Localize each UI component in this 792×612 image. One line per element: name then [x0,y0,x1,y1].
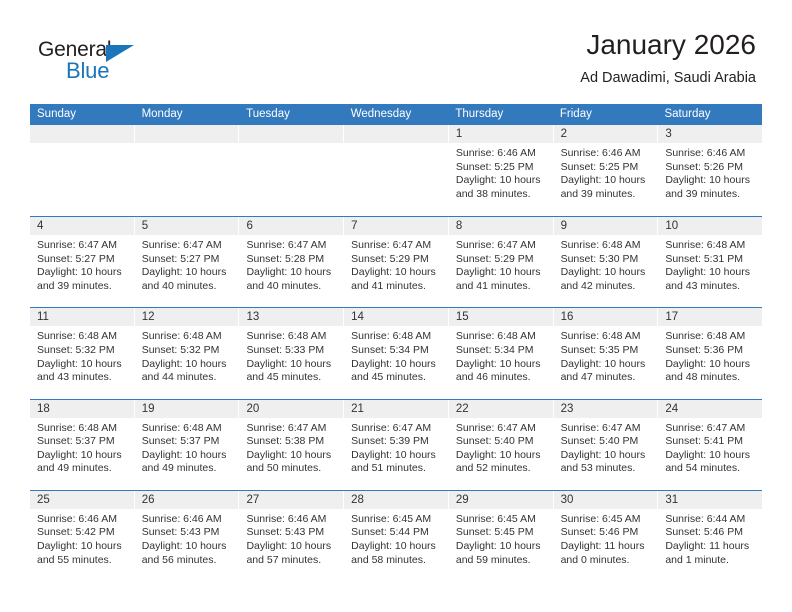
day-sun-info: Sunrise: 6:48 AMSunset: 5:32 PMDaylight:… [135,326,239,384]
day-sun-info: Sunrise: 6:44 AMSunset: 5:46 PMDaylight:… [658,509,762,567]
calendar-day-cell[interactable]: 27Sunrise: 6:46 AMSunset: 5:43 PMDayligh… [239,491,344,581]
sunset-text: Sunset: 5:27 PM [37,253,127,267]
sunset-text: Sunset: 5:35 PM [561,344,651,358]
sunrise-text: Sunrise: 6:47 AM [456,239,546,253]
day-number: 20 [239,400,343,418]
calendar-day-cell[interactable]: 5Sunrise: 6:47 AMSunset: 5:27 PMDaylight… [135,217,240,307]
day-number: 15 [449,308,553,326]
sunrise-text: Sunrise: 6:47 AM [246,422,336,436]
day-sun-info: Sunrise: 6:48 AMSunset: 5:34 PMDaylight:… [449,326,553,384]
daylight-text: Daylight: 10 hours and 40 minutes. [246,266,336,293]
calendar-day-cell[interactable]: 11Sunrise: 6:48 AMSunset: 5:32 PMDayligh… [30,308,135,398]
calendar-day-cell[interactable]: 25Sunrise: 6:46 AMSunset: 5:42 PMDayligh… [30,491,135,581]
calendar-day-cell[interactable]: 30Sunrise: 6:45 AMSunset: 5:46 PMDayligh… [554,491,659,581]
day-number: 14 [344,308,448,326]
sunrise-text: Sunrise: 6:45 AM [456,513,546,527]
day-number: 4 [30,217,134,235]
daylight-text: Daylight: 10 hours and 43 minutes. [665,266,755,293]
day-sun-info: Sunrise: 6:48 AMSunset: 5:32 PMDaylight:… [30,326,134,384]
sunset-text: Sunset: 5:43 PM [246,526,336,540]
weekday-header-monday: Monday [135,104,240,125]
sunset-text: Sunset: 5:46 PM [665,526,755,540]
calendar-day-cell[interactable]: 22Sunrise: 6:47 AMSunset: 5:40 PMDayligh… [449,400,554,490]
day-sun-info: Sunrise: 6:45 AMSunset: 5:44 PMDaylight:… [344,509,448,567]
daylight-text: Daylight: 10 hours and 49 minutes. [142,449,232,476]
day-sun-info: Sunrise: 6:47 AMSunset: 5:27 PMDaylight:… [30,235,134,293]
day-number: 3 [658,125,762,143]
day-number: 28 [344,491,448,509]
calendar-day-cell[interactable]: 21Sunrise: 6:47 AMSunset: 5:39 PMDayligh… [344,400,449,490]
calendar-cell-empty [30,125,135,216]
day-number [135,125,239,143]
day-number: 1 [449,125,553,143]
day-sun-info: Sunrise: 6:48 AMSunset: 5:37 PMDaylight:… [30,418,134,476]
day-sun-info: Sunrise: 6:47 AMSunset: 5:28 PMDaylight:… [239,235,343,293]
sunrise-text: Sunrise: 6:47 AM [351,422,441,436]
day-number: 22 [449,400,553,418]
calendar-day-cell[interactable]: 12Sunrise: 6:48 AMSunset: 5:32 PMDayligh… [135,308,240,398]
calendar-day-cell[interactable]: 18Sunrise: 6:48 AMSunset: 5:37 PMDayligh… [30,400,135,490]
sunrise-text: Sunrise: 6:47 AM [37,239,127,253]
calendar-day-cell[interactable]: 8Sunrise: 6:47 AMSunset: 5:29 PMDaylight… [449,217,554,307]
sunrise-text: Sunrise: 6:46 AM [246,513,336,527]
day-sun-info: Sunrise: 6:45 AMSunset: 5:45 PMDaylight:… [449,509,553,567]
calendar-day-cell[interactable]: 20Sunrise: 6:47 AMSunset: 5:38 PMDayligh… [239,400,344,490]
sunset-text: Sunset: 5:31 PM [665,253,755,267]
calendar-day-cell[interactable]: 16Sunrise: 6:48 AMSunset: 5:35 PMDayligh… [554,308,659,398]
daylight-text: Daylight: 10 hours and 41 minutes. [456,266,546,293]
daylight-text: Daylight: 10 hours and 48 minutes. [665,358,755,385]
weekday-header-saturday: Saturday [657,104,762,125]
day-number: 8 [449,217,553,235]
daylight-text: Daylight: 10 hours and 56 minutes. [142,540,232,567]
calendar-page: General Blue January 2026 Ad Dawadimi, S… [0,0,792,612]
day-number: 19 [135,400,239,418]
sunset-text: Sunset: 5:39 PM [351,435,441,449]
day-number: 5 [135,217,239,235]
day-number: 16 [554,308,658,326]
day-sun-info: Sunrise: 6:47 AMSunset: 5:29 PMDaylight:… [344,235,448,293]
day-sun-info: Sunrise: 6:47 AMSunset: 5:40 PMDaylight:… [554,418,658,476]
day-number: 12 [135,308,239,326]
day-sun-info: Sunrise: 6:46 AMSunset: 5:25 PMDaylight:… [554,143,658,201]
daylight-text: Daylight: 10 hours and 42 minutes. [561,266,651,293]
day-number: 2 [554,125,658,143]
calendar-day-cell[interactable]: 6Sunrise: 6:47 AMSunset: 5:28 PMDaylight… [239,217,344,307]
sunset-text: Sunset: 5:33 PM [246,344,336,358]
sunrise-text: Sunrise: 6:48 AM [665,239,755,253]
day-number [30,125,134,143]
sunset-text: Sunset: 5:34 PM [456,344,546,358]
day-number: 10 [658,217,762,235]
calendar-day-cell[interactable]: 24Sunrise: 6:47 AMSunset: 5:41 PMDayligh… [658,400,762,490]
calendar-day-cell[interactable]: 15Sunrise: 6:48 AMSunset: 5:34 PMDayligh… [449,308,554,398]
sunrise-text: Sunrise: 6:48 AM [456,330,546,344]
weekday-header-sunday: Sunday [30,104,135,125]
weekday-header-thursday: Thursday [448,104,553,125]
day-number: 27 [239,491,343,509]
day-number: 11 [30,308,134,326]
sunrise-text: Sunrise: 6:46 AM [142,513,232,527]
daylight-text: Daylight: 10 hours and 53 minutes. [561,449,651,476]
sunrise-text: Sunrise: 6:46 AM [561,147,651,161]
day-sun-info: Sunrise: 6:46 AMSunset: 5:25 PMDaylight:… [449,143,553,201]
daylight-text: Daylight: 10 hours and 39 minutes. [665,174,755,201]
daylight-text: Daylight: 10 hours and 45 minutes. [351,358,441,385]
sunset-text: Sunset: 5:27 PM [142,253,232,267]
day-sun-info: Sunrise: 6:46 AMSunset: 5:43 PMDaylight:… [135,509,239,567]
title-block: January 2026 Ad Dawadimi, Saudi Arabia [580,28,756,88]
sunrise-text: Sunrise: 6:48 AM [142,422,232,436]
sunset-text: Sunset: 5:36 PM [665,344,755,358]
sunrise-text: Sunrise: 6:48 AM [665,330,755,344]
sunset-text: Sunset: 5:40 PM [456,435,546,449]
daylight-text: Daylight: 10 hours and 57 minutes. [246,540,336,567]
sunrise-text: Sunrise: 6:46 AM [456,147,546,161]
day-sun-info: Sunrise: 6:46 AMSunset: 5:43 PMDaylight:… [239,509,343,567]
weekday-header-wednesday: Wednesday [344,104,449,125]
sunrise-text: Sunrise: 6:44 AM [665,513,755,527]
day-number [344,125,448,143]
calendar-cell-empty [239,125,344,216]
general-blue-logo[interactable]: General Blue [38,38,168,86]
day-sun-info: Sunrise: 6:47 AMSunset: 5:40 PMDaylight:… [449,418,553,476]
daylight-text: Daylight: 10 hours and 39 minutes. [561,174,651,201]
day-sun-info: Sunrise: 6:47 AMSunset: 5:39 PMDaylight:… [344,418,448,476]
sunrise-text: Sunrise: 6:48 AM [37,422,127,436]
sunset-text: Sunset: 5:30 PM [561,253,651,267]
day-sun-info: Sunrise: 6:48 AMSunset: 5:33 PMDaylight:… [239,326,343,384]
calendar-day-cell[interactable]: 19Sunrise: 6:48 AMSunset: 5:37 PMDayligh… [135,400,240,490]
day-number: 30 [554,491,658,509]
sunset-text: Sunset: 5:37 PM [37,435,127,449]
day-number: 21 [344,400,448,418]
sunset-text: Sunset: 5:25 PM [561,161,651,175]
daylight-text: Daylight: 10 hours and 50 minutes. [246,449,336,476]
calendar-day-cell[interactable]: 10Sunrise: 6:48 AMSunset: 5:31 PMDayligh… [658,217,762,307]
page-subtitle: Ad Dawadimi, Saudi Arabia [580,68,756,88]
daylight-text: Daylight: 10 hours and 38 minutes. [456,174,546,201]
daylight-text: Daylight: 10 hours and 58 minutes. [351,540,441,567]
day-number: 17 [658,308,762,326]
daylight-text: Daylight: 10 hours and 54 minutes. [665,449,755,476]
day-sun-info: Sunrise: 6:48 AMSunset: 5:31 PMDaylight:… [658,235,762,293]
calendar-day-cell[interactable]: 2Sunrise: 6:46 AMSunset: 5:25 PMDaylight… [554,125,659,216]
day-sun-info: Sunrise: 6:48 AMSunset: 5:30 PMDaylight:… [554,235,658,293]
daylight-text: Daylight: 10 hours and 49 minutes. [37,449,127,476]
daylight-text: Daylight: 10 hours and 40 minutes. [142,266,232,293]
calendar-day-cell[interactable]: 28Sunrise: 6:45 AMSunset: 5:44 PMDayligh… [344,491,449,581]
calendar-day-cell[interactable]: 4Sunrise: 6:47 AMSunset: 5:27 PMDaylight… [30,217,135,307]
sunrise-text: Sunrise: 6:46 AM [37,513,127,527]
calendar-day-cell[interactable]: 26Sunrise: 6:46 AMSunset: 5:43 PMDayligh… [135,491,240,581]
sunrise-text: Sunrise: 6:48 AM [561,239,651,253]
weekday-header-tuesday: Tuesday [239,104,344,125]
day-number: 24 [658,400,762,418]
sunset-text: Sunset: 5:29 PM [456,253,546,267]
sunset-text: Sunset: 5:25 PM [456,161,546,175]
daylight-text: Daylight: 10 hours and 52 minutes. [456,449,546,476]
day-number: 18 [30,400,134,418]
sunset-text: Sunset: 5:42 PM [37,526,127,540]
calendar-day-cell[interactable]: 17Sunrise: 6:48 AMSunset: 5:36 PMDayligh… [658,308,762,398]
daylight-text: Daylight: 10 hours and 41 minutes. [351,266,441,293]
calendar-cell-empty [135,125,240,216]
calendar-day-cell[interactable]: 29Sunrise: 6:45 AMSunset: 5:45 PMDayligh… [449,491,554,581]
sunset-text: Sunset: 5:34 PM [351,344,441,358]
day-number: 29 [449,491,553,509]
calendar-day-cell[interactable]: 1Sunrise: 6:46 AMSunset: 5:25 PMDaylight… [449,125,554,216]
sunrise-text: Sunrise: 6:46 AM [665,147,755,161]
day-number: 31 [658,491,762,509]
page-title: January 2026 [580,28,756,62]
day-sun-info: Sunrise: 6:47 AMSunset: 5:27 PMDaylight:… [135,235,239,293]
day-number: 13 [239,308,343,326]
sunrise-text: Sunrise: 6:47 AM [561,422,651,436]
daylight-text: Daylight: 11 hours and 1 minute. [665,540,755,567]
calendar-cell-empty [344,125,449,216]
calendar-day-cell[interactable]: 31Sunrise: 6:44 AMSunset: 5:46 PMDayligh… [658,491,762,581]
sunset-text: Sunset: 5:32 PM [37,344,127,358]
calendar-day-cell[interactable]: 9Sunrise: 6:48 AMSunset: 5:30 PMDaylight… [554,217,659,307]
daylight-text: Daylight: 10 hours and 59 minutes. [456,540,546,567]
calendar-weeks: 1Sunrise: 6:46 AMSunset: 5:25 PMDaylight… [30,125,762,581]
calendar-week-row: 18Sunrise: 6:48 AMSunset: 5:37 PMDayligh… [30,399,762,490]
sunset-text: Sunset: 5:46 PM [561,526,651,540]
daylight-text: Daylight: 10 hours and 45 minutes. [246,358,336,385]
logo-triangle-icon [106,45,134,62]
daylight-text: Daylight: 10 hours and 55 minutes. [37,540,127,567]
day-number: 25 [30,491,134,509]
sunrise-text: Sunrise: 6:48 AM [351,330,441,344]
calendar-week-row: 11Sunrise: 6:48 AMSunset: 5:32 PMDayligh… [30,307,762,398]
sunrise-text: Sunrise: 6:45 AM [351,513,441,527]
sunset-text: Sunset: 5:26 PM [665,161,755,175]
daylight-text: Daylight: 10 hours and 44 minutes. [142,358,232,385]
day-sun-info: Sunrise: 6:47 AMSunset: 5:29 PMDaylight:… [449,235,553,293]
weekday-header-friday: Friday [553,104,658,125]
daylight-text: Daylight: 10 hours and 39 minutes. [37,266,127,293]
sunrise-text: Sunrise: 6:48 AM [246,330,336,344]
daylight-text: Daylight: 10 hours and 47 minutes. [561,358,651,385]
day-sun-info: Sunrise: 6:46 AMSunset: 5:26 PMDaylight:… [658,143,762,201]
day-sun-info: Sunrise: 6:48 AMSunset: 5:36 PMDaylight:… [658,326,762,384]
daylight-text: Daylight: 11 hours and 0 minutes. [561,540,651,567]
sunrise-text: Sunrise: 6:47 AM [142,239,232,253]
day-number: 7 [344,217,448,235]
day-number: 9 [554,217,658,235]
calendar-day-cell[interactable]: 3Sunrise: 6:46 AMSunset: 5:26 PMDaylight… [658,125,762,216]
calendar-day-cell[interactable]: 13Sunrise: 6:48 AMSunset: 5:33 PMDayligh… [239,308,344,398]
sunset-text: Sunset: 5:43 PM [142,526,232,540]
calendar-day-cell[interactable]: 23Sunrise: 6:47 AMSunset: 5:40 PMDayligh… [554,400,659,490]
weekday-header-row: SundayMondayTuesdayWednesdayThursdayFrid… [30,104,762,125]
sunset-text: Sunset: 5:41 PM [665,435,755,449]
day-number: 26 [135,491,239,509]
day-sun-info: Sunrise: 6:46 AMSunset: 5:42 PMDaylight:… [30,509,134,567]
sunset-text: Sunset: 5:45 PM [456,526,546,540]
sunset-text: Sunset: 5:44 PM [351,526,441,540]
sunset-text: Sunset: 5:29 PM [351,253,441,267]
calendar-week-row: 25Sunrise: 6:46 AMSunset: 5:42 PMDayligh… [30,490,762,581]
sunset-text: Sunset: 5:38 PM [246,435,336,449]
day-sun-info: Sunrise: 6:47 AMSunset: 5:38 PMDaylight:… [239,418,343,476]
sunrise-text: Sunrise: 6:48 AM [142,330,232,344]
sunrise-text: Sunrise: 6:47 AM [456,422,546,436]
sunrise-text: Sunrise: 6:47 AM [351,239,441,253]
day-sun-info: Sunrise: 6:48 AMSunset: 5:34 PMDaylight:… [344,326,448,384]
calendar-grid: SundayMondayTuesdayWednesdayThursdayFrid… [30,104,762,581]
day-number [239,125,343,143]
sunset-text: Sunset: 5:32 PM [142,344,232,358]
sunset-text: Sunset: 5:28 PM [246,253,336,267]
sunset-text: Sunset: 5:40 PM [561,435,651,449]
sunrise-text: Sunrise: 6:48 AM [37,330,127,344]
day-sun-info: Sunrise: 6:45 AMSunset: 5:46 PMDaylight:… [554,509,658,567]
page-header: General Blue January 2026 Ad Dawadimi, S… [0,0,792,104]
sunset-text: Sunset: 5:37 PM [142,435,232,449]
sunrise-text: Sunrise: 6:48 AM [561,330,651,344]
day-number: 23 [554,400,658,418]
sunrise-text: Sunrise: 6:47 AM [246,239,336,253]
calendar-week-row: 4Sunrise: 6:47 AMSunset: 5:27 PMDaylight… [30,216,762,307]
daylight-text: Daylight: 10 hours and 43 minutes. [37,358,127,385]
day-sun-info: Sunrise: 6:48 AMSunset: 5:37 PMDaylight:… [135,418,239,476]
sunrise-text: Sunrise: 6:45 AM [561,513,651,527]
daylight-text: Daylight: 10 hours and 51 minutes. [351,449,441,476]
day-sun-info: Sunrise: 6:48 AMSunset: 5:35 PMDaylight:… [554,326,658,384]
logo-word-blue: Blue [66,58,109,84]
daylight-text: Daylight: 10 hours and 46 minutes. [456,358,546,385]
calendar-day-cell[interactable]: 7Sunrise: 6:47 AMSunset: 5:29 PMDaylight… [344,217,449,307]
day-sun-info: Sunrise: 6:47 AMSunset: 5:41 PMDaylight:… [658,418,762,476]
sunrise-text: Sunrise: 6:47 AM [665,422,755,436]
day-number: 6 [239,217,343,235]
calendar-week-row: 1Sunrise: 6:46 AMSunset: 5:25 PMDaylight… [30,125,762,216]
calendar-day-cell[interactable]: 14Sunrise: 6:48 AMSunset: 5:34 PMDayligh… [344,308,449,398]
